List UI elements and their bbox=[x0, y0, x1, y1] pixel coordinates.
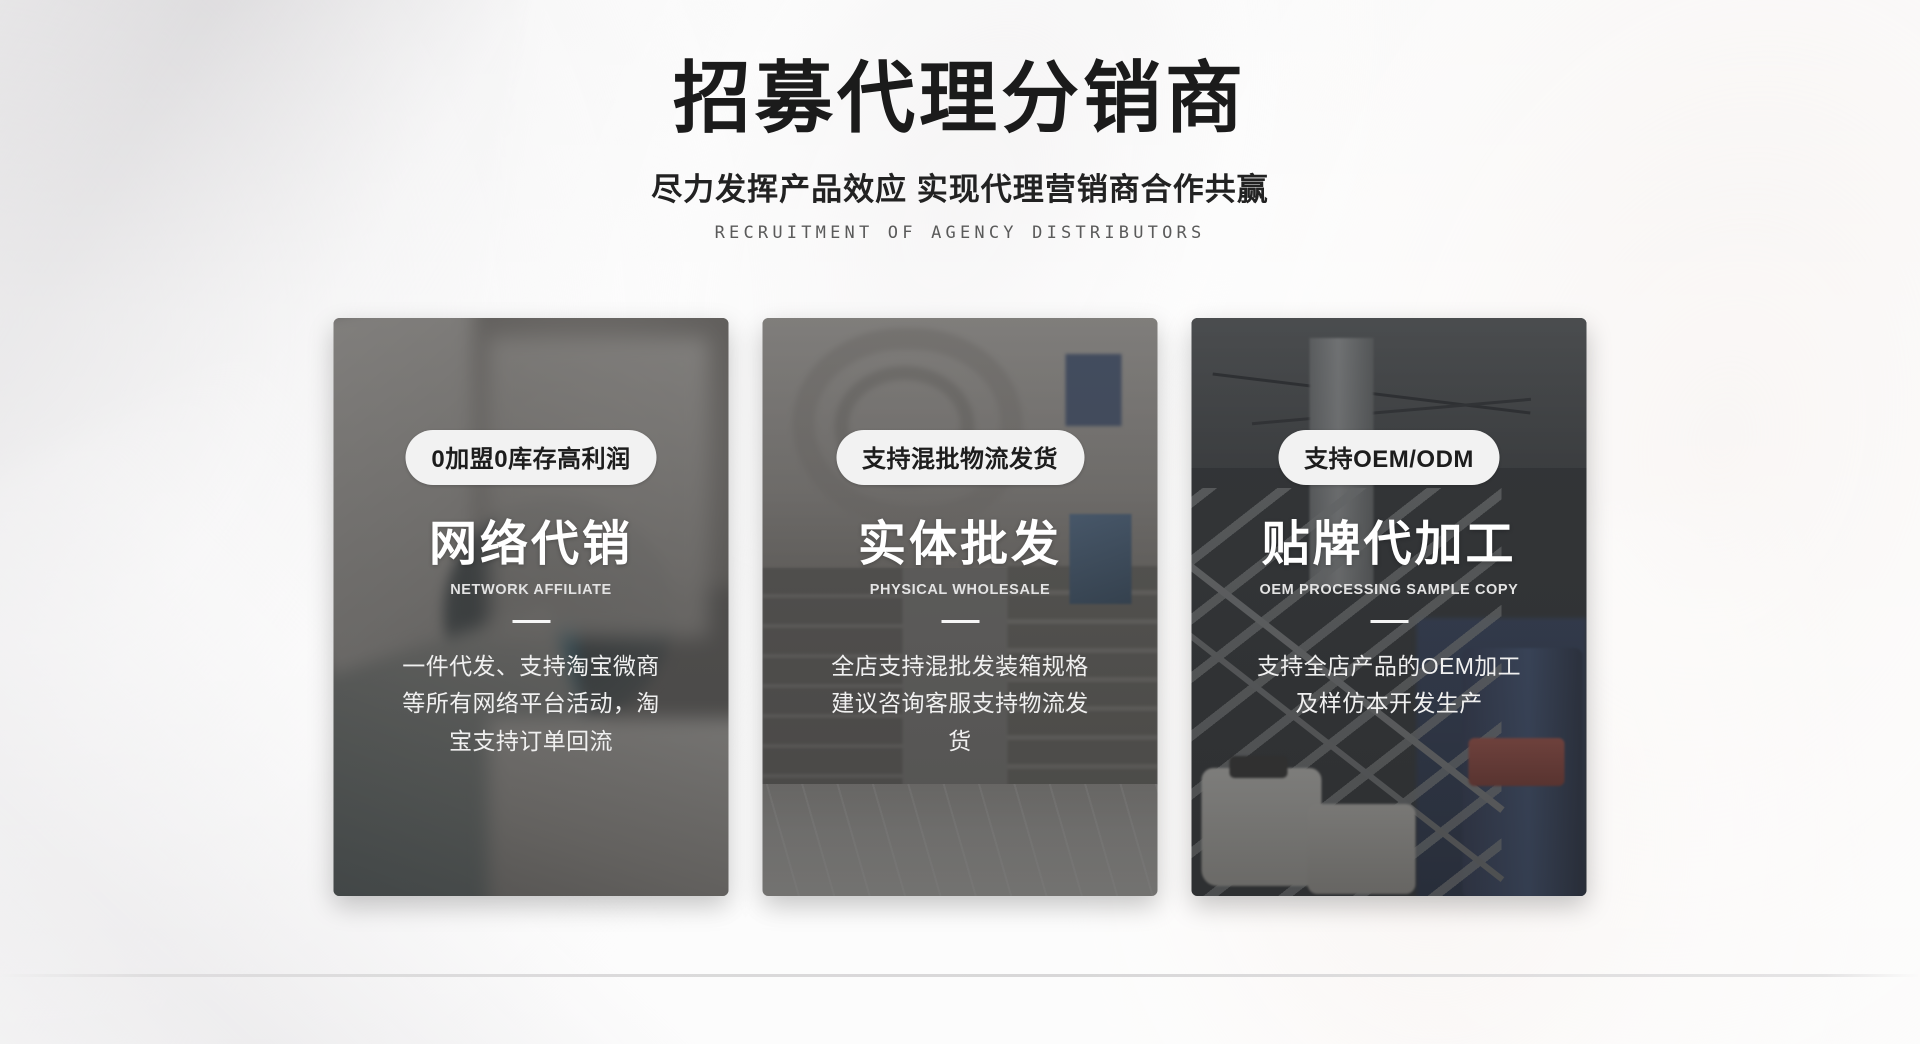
card-description: 支持全店产品的OEM加工及样仿本开发生产 bbox=[1249, 648, 1529, 723]
card-divider bbox=[1370, 620, 1408, 623]
card-english-title: PHYSICAL WHOLESALE bbox=[870, 582, 1051, 598]
bottom-divider bbox=[0, 974, 1920, 977]
card-title: 贴牌代加工 bbox=[1261, 521, 1516, 569]
distributor-card-network-affiliate[interactable]: 0加盟0库存高利润 网络代销 NETWORK AFFILIATE 一件代发、支持… bbox=[334, 318, 729, 896]
distributor-card-list: 0加盟0库存高利润 网络代销 NETWORK AFFILIATE 一件代发、支持… bbox=[334, 318, 1587, 896]
card-divider bbox=[941, 620, 979, 623]
card-english-title: OEM PROCESSING SAMPLE COPY bbox=[1260, 582, 1519, 598]
card-description: 全店支持混批发装箱规格建议咨询客服支持物流发货 bbox=[820, 648, 1100, 760]
page-title: 招募代理分销商 bbox=[0, 56, 1920, 142]
card-badge: 支持OEM/ODM bbox=[1278, 430, 1500, 485]
page-english-subtitle: RECRUITMENT OF AGENCY DISTRIBUTORS bbox=[0, 223, 1920, 243]
distributor-card-oem-processing[interactable]: 支持OEM/ODM 贴牌代加工 OEM PROCESSING SAMPLE CO… bbox=[1192, 318, 1587, 896]
card-badge: 0加盟0库存高利润 bbox=[405, 430, 656, 485]
distributor-card-physical-wholesale[interactable]: 支持混批物流发货 实体批发 PHYSICAL WHOLESALE 全店支持混批发… bbox=[763, 318, 1158, 896]
card-divider bbox=[512, 620, 550, 623]
card-description: 一件代发、支持淘宝微商等所有网络平台活动，淘宝支持订单回流 bbox=[391, 648, 671, 760]
page-header: 招募代理分销商 尽力发挥产品效应 实现代理营销商合作共赢 RECRUITMENT… bbox=[0, 56, 1920, 243]
card-badge: 支持混批物流发货 bbox=[836, 430, 1084, 485]
card-title: 实体批发 bbox=[858, 521, 1062, 569]
card-english-title: NETWORK AFFILIATE bbox=[450, 582, 612, 598]
page-subtitle: 尽力发挥产品效应 实现代理营销商合作共赢 bbox=[0, 164, 1920, 209]
card-title: 网络代销 bbox=[429, 521, 633, 569]
